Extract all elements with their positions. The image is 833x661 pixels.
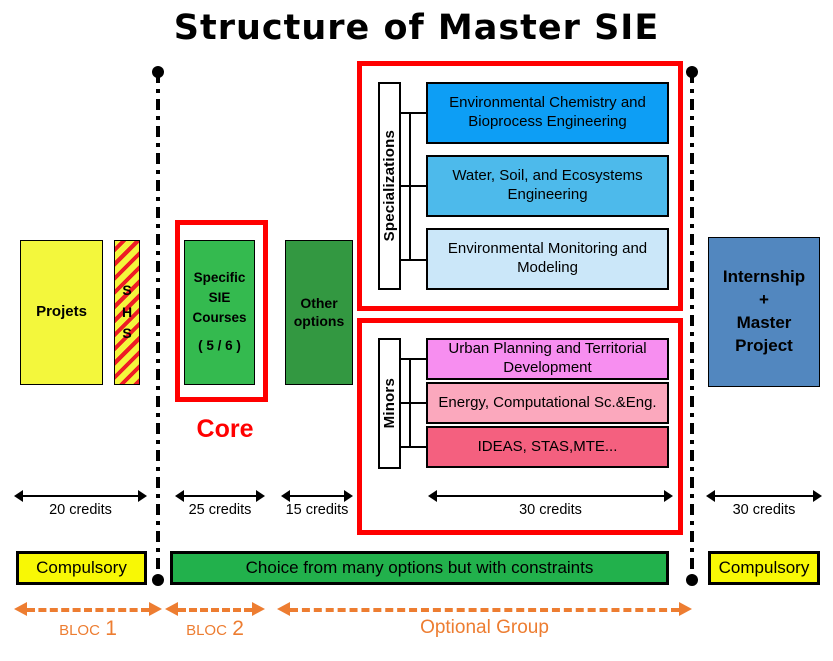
bloc-label-1: BLOC 1: [14, 617, 162, 641]
block-shs[interactable]: S H S: [114, 240, 140, 385]
arrow-line: [714, 495, 814, 497]
minor-option-3[interactable]: IDEAS, STAS,MTE...: [426, 426, 669, 468]
arrow-head-left-icon: [14, 602, 27, 616]
credit-arrow-15: 15 credits: [281, 489, 353, 519]
divider-bloc1-bloc2: [156, 72, 160, 580]
arrow-head-right-icon: [256, 490, 265, 502]
block-projets[interactable]: Projets: [20, 240, 103, 385]
divider-dot-bottom: [152, 574, 164, 586]
arrow-head-right-icon: [252, 602, 265, 616]
arrow-head-left-icon: [277, 602, 290, 616]
minors-group-label-text: Minors: [381, 378, 398, 428]
block-internship-line-3: Master: [737, 312, 792, 335]
block-specific-sie-line-4: ( 5 / 6 ): [198, 338, 241, 355]
credit-label-5: 30 credits: [706, 502, 822, 518]
bloc-arrow-1: BLOC 1: [14, 600, 162, 644]
minors-connector-2: [401, 402, 427, 404]
status-bar-compulsory-left: Compulsory: [16, 551, 147, 585]
bloc-arrow-line: [290, 608, 679, 612]
minors-connector-1: [401, 358, 427, 360]
specializations-group-label-text: Specializations: [381, 130, 398, 241]
arrow-line: [289, 495, 345, 497]
credit-arrow-30-optional: 30 credits: [428, 489, 673, 519]
arrow-head-left-icon: [14, 490, 23, 502]
minor-option-2[interactable]: Energy, Computational Sc.&Eng.: [426, 382, 669, 424]
divider-optional-internship: [690, 72, 694, 580]
bloc-label-1-prefix: BLOC: [59, 622, 100, 639]
arrow-head-right-icon: [344, 490, 353, 502]
credit-label-4: 30 credits: [428, 502, 673, 518]
specializations-group-label: Specializations: [378, 82, 401, 290]
page-title: Structure of Master SIE: [0, 8, 833, 48]
block-shs-letter-1: S: [122, 280, 131, 302]
block-specific-sie-line-3: Courses: [192, 310, 246, 327]
arrow-line: [436, 495, 665, 497]
specialization-option-3-label: Environmental Monitoring and Modeling: [428, 240, 667, 278]
block-internship-line-4: Project: [735, 335, 793, 358]
block-specific-sie-line-1: Specific: [194, 270, 246, 287]
bloc-label-2-number: 2: [232, 617, 244, 640]
minors-group-label: Minors: [378, 338, 401, 469]
block-specific-sie-courses[interactable]: Specific SIE Courses ( 5 / 6 ): [184, 240, 255, 385]
credit-label-2: 25 credits: [175, 502, 265, 518]
bloc-arrow-line: [178, 608, 252, 612]
minor-option-1-label: Urban Planning and Territorial Developme…: [428, 340, 667, 378]
arrow-head-right-icon: [149, 602, 162, 616]
status-bar-compulsory-left-label: Compulsory: [36, 558, 127, 578]
arrow-head-right-icon: [813, 490, 822, 502]
credit-arrow-20: 20 credits: [14, 489, 147, 519]
specialization-option-3[interactable]: Environmental Monitoring and Modeling: [426, 228, 669, 290]
bloc-label-optional-group: Optional Group: [277, 617, 692, 639]
block-other-options-line-2: options: [294, 313, 345, 331]
core-label: Core: [175, 415, 275, 444]
specialization-option-1[interactable]: Environmental Chemistry and Bioprocess E…: [426, 82, 669, 144]
block-other-options-line-1: Other: [300, 295, 337, 313]
minor-option-3-label: IDEAS, STAS,MTE...: [478, 438, 618, 457]
bloc-label-2-prefix: BLOC: [186, 622, 227, 639]
arrow-line: [183, 495, 257, 497]
block-projets-label: Projets: [36, 303, 87, 322]
bloc-arrow-line: [27, 608, 149, 612]
status-bar-choice-label: Choice from many options but with constr…: [246, 558, 594, 578]
specializations-connector-2: [401, 185, 427, 187]
status-bar-compulsory-right: Compulsory: [708, 551, 820, 585]
credit-arrow-30-internship: 30 credits: [706, 489, 822, 519]
minors-connector-3: [401, 446, 427, 448]
diagram-canvas: Structure of Master SIE Projets S H S Sp…: [0, 0, 833, 661]
credit-arrow-25: 25 credits: [175, 489, 265, 519]
specializations-connector-1: [401, 112, 427, 114]
arrow-head-right-icon: [679, 602, 692, 616]
block-shs-letter-3: S: [122, 323, 131, 345]
bloc-label-optional-group-text: Optional Group: [420, 617, 549, 638]
specialization-option-2-label: Water, Soil, and Ecosystems Engineering: [428, 167, 667, 205]
minor-option-1[interactable]: Urban Planning and Territorial Developme…: [426, 338, 669, 380]
credit-label-1: 20 credits: [14, 502, 147, 518]
specialization-option-1-label: Environmental Chemistry and Bioprocess E…: [428, 94, 667, 132]
arrow-head-left-icon: [165, 602, 178, 616]
specialization-option-2[interactable]: Water, Soil, and Ecosystems Engineering: [426, 155, 669, 217]
specializations-connector-3: [401, 259, 427, 261]
divider-dot-top: [152, 66, 164, 78]
bloc-label-2: BLOC 2: [165, 617, 265, 641]
arrow-head-left-icon: [428, 490, 437, 502]
arrow-line: [22, 495, 139, 497]
block-shs-letter-2: H: [122, 302, 132, 324]
arrow-head-left-icon: [706, 490, 715, 502]
block-internship-master-project[interactable]: Internship + Master Project: [708, 237, 820, 387]
arrow-head-right-icon: [664, 490, 673, 502]
bloc-label-1-number: 1: [105, 617, 117, 640]
block-internship-line-2: +: [759, 289, 769, 312]
arrow-head-left-icon: [175, 490, 184, 502]
minor-option-2-label: Energy, Computational Sc.&Eng.: [438, 394, 656, 413]
divider-dot-top: [686, 66, 698, 78]
status-bar-compulsory-right-label: Compulsory: [719, 558, 810, 578]
block-other-options[interactable]: Other options: [285, 240, 353, 385]
block-internship-line-1: Internship: [723, 266, 805, 289]
arrow-head-right-icon: [138, 490, 147, 502]
arrow-head-left-icon: [281, 490, 290, 502]
credit-label-3: 15 credits: [281, 502, 353, 518]
status-bar-choice: Choice from many options but with constr…: [170, 551, 669, 585]
divider-dot-bottom: [686, 574, 698, 586]
block-specific-sie-line-2: SIE: [209, 290, 231, 307]
bloc-arrow-2: BLOC 2: [165, 600, 265, 644]
bloc-arrow-optional-group: Optional Group: [277, 600, 692, 644]
